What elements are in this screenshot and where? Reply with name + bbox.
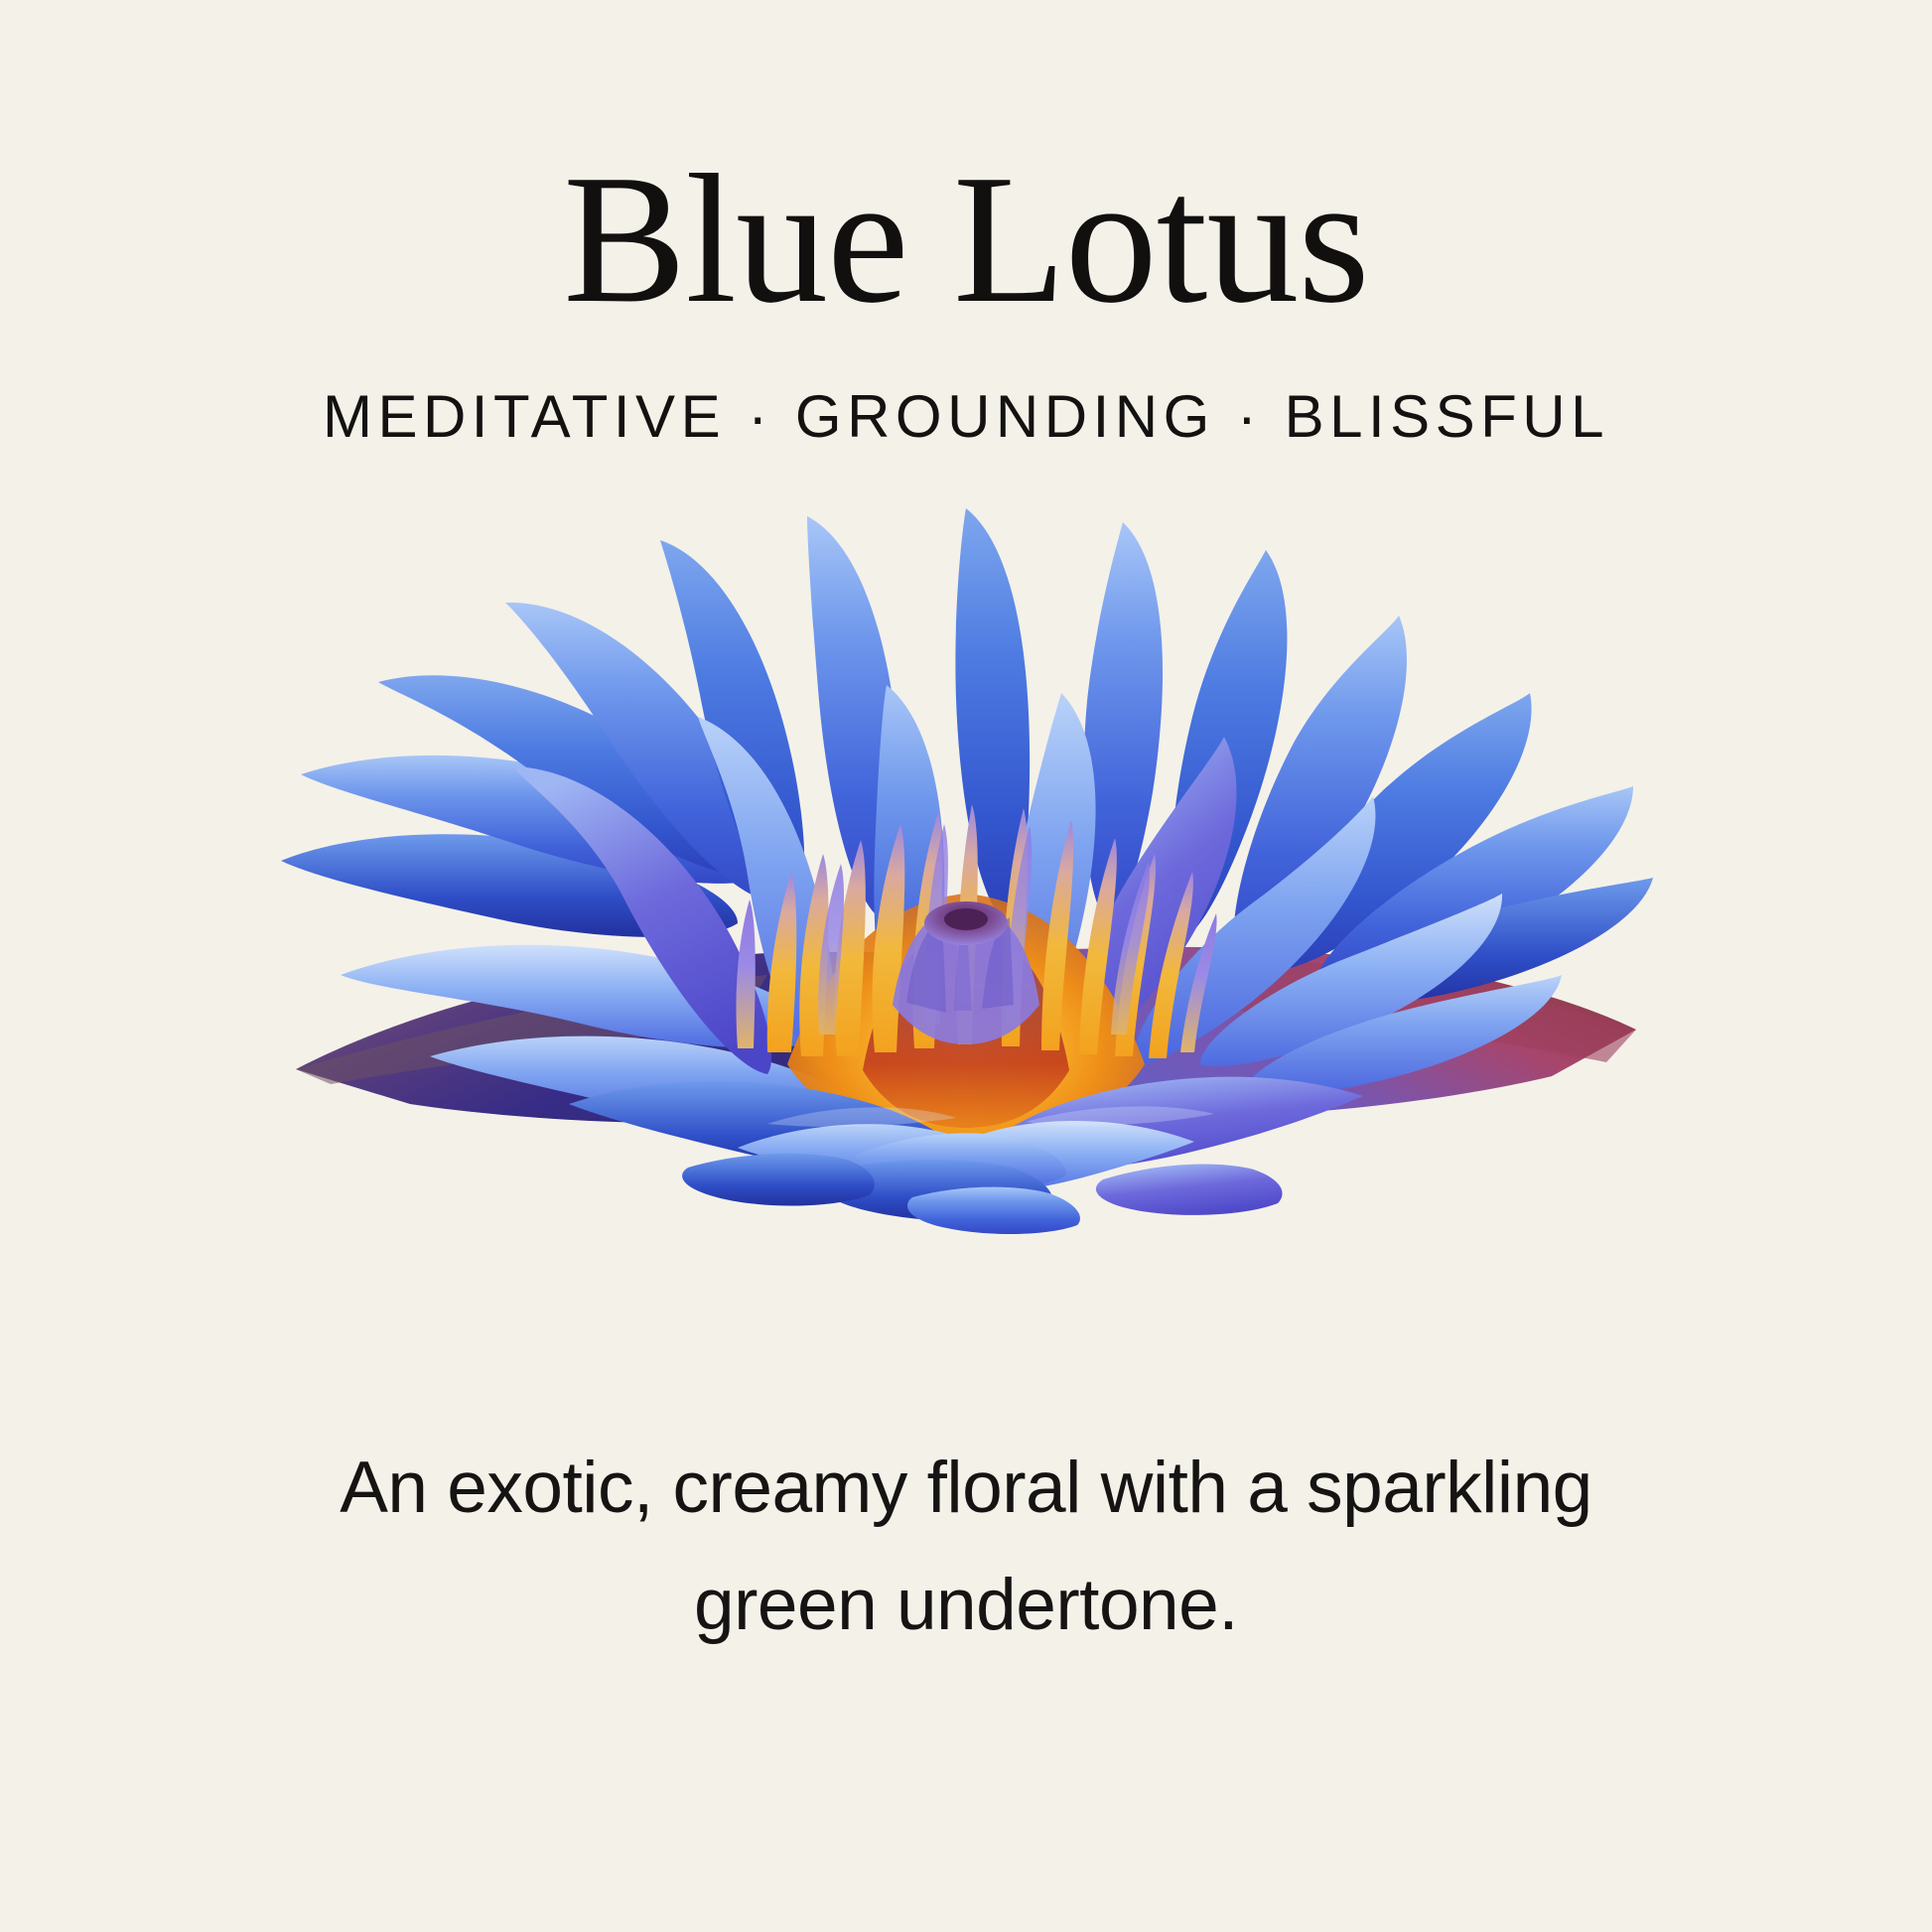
- product-subtitle: MEDITATIVE · GROUNDING · BLISSFUL: [0, 332, 1932, 447]
- product-card: Blue Lotus MEDITATIVE · GROUNDING · BLIS…: [0, 0, 1932, 1932]
- hero-image-container: [0, 508, 1932, 1322]
- product-description: An exotic, creamy floral with a sparklin…: [261, 1322, 1671, 1665]
- header: Blue Lotus MEDITATIVE · GROUNDING · BLIS…: [0, 0, 1932, 447]
- page-title: Blue Lotus: [0, 147, 1932, 332]
- blue-lotus-flower-image: [271, 508, 1661, 1312]
